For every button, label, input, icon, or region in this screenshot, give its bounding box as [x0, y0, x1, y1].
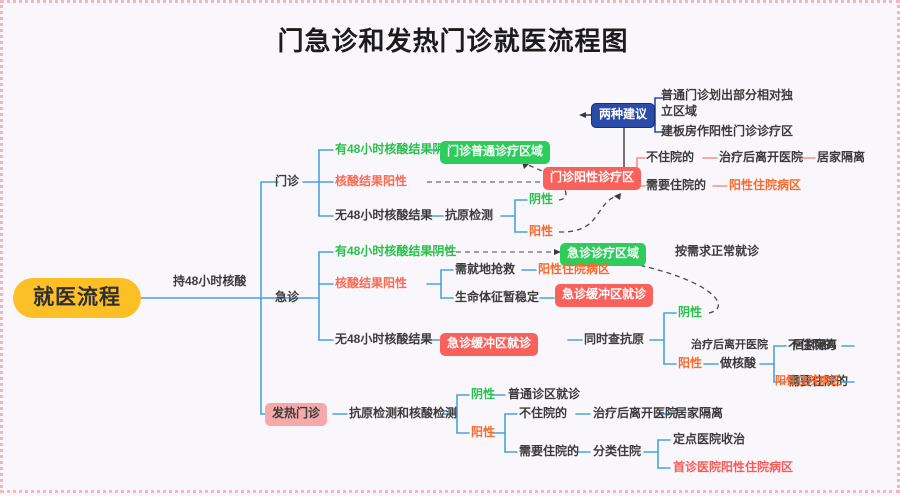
fever-inpatient-label: 需要住院的: [519, 445, 579, 459]
root-edge-label: 持48小时核酸: [173, 275, 246, 289]
fever-positive-label: 阳性: [471, 426, 495, 440]
emergency-no48-label: 无48小时核酸结果: [335, 333, 432, 347]
positive-clinic-outpatient-label: 不住院的: [646, 151, 694, 165]
advice-option-2: 建板房作阳性门诊诊疗区: [661, 125, 793, 139]
emergency-onsite-rescue-label: 需就地抢救: [455, 263, 515, 277]
emergency-home-isolation: 居家隔离: [793, 339, 837, 352]
fever-negative-label: 阴性: [471, 388, 495, 402]
emergency-buffer-zone-box-1[interactable]: 急诊缓冲区就诊: [555, 284, 653, 307]
emergency-pcr-positive-label: 核酸结果阳性: [335, 277, 407, 291]
branch-label-outpatient[interactable]: 门诊: [275, 175, 299, 189]
positive-clinic-home-isolation: 居家隔离: [817, 151, 865, 165]
emergency-leave-hospital: 治疗后离开医院: [691, 339, 768, 352]
emergency-positive-ward: 阳性住院病区: [775, 375, 841, 388]
fever-outpatient-label: 不住院的: [519, 407, 567, 421]
emergency-do-pcr-label: 做核酸: [720, 357, 756, 371]
fever-first-hospital-ward: 首诊医院阳性住院病区: [673, 461, 793, 475]
outpatient-antigen-positive-label: 阳性: [529, 225, 553, 239]
emergency-antigen-check-label: 同时查抗原: [584, 333, 644, 347]
outpatient-positive-zone-box[interactable]: 门诊阳性诊疗区: [543, 167, 641, 190]
fever-designated-hospital: 定点医院收治: [673, 433, 745, 447]
emergency-antigen-positive-label: 阳性: [678, 357, 702, 371]
fever-leave-hospital: 治疗后离开医院: [593, 407, 677, 421]
emergency-stable-vitals-label: 生命体征暂稳定: [455, 291, 539, 305]
fever-negative-target: 普通诊区就诊: [508, 388, 580, 402]
positive-clinic-leave-hospital: 治疗后离开医院: [719, 151, 803, 165]
two-suggestions-box[interactable]: 两种建议: [591, 103, 655, 128]
branch-label-emergency[interactable]: 急诊: [275, 291, 299, 305]
emergency-antigen-negative-label: 阴性: [678, 306, 702, 320]
outpatient-antigen-negative-label: 阴性: [529, 193, 553, 207]
root-node[interactable]: 就医流程: [13, 278, 141, 318]
advice-option-1: 普通门诊划出部分相对独立区域: [661, 87, 801, 119]
positive-inpatient-ward-label: 阳性住院病区: [729, 179, 801, 193]
branch-label-fever[interactable]: 发热门诊: [265, 403, 327, 426]
fever-classified-admission: 分类住院: [593, 445, 641, 459]
outpatient-antigen-label: 抗原检测: [445, 209, 493, 223]
fever-test-label: 抗原检测和核酸检测: [349, 407, 457, 421]
fever-home-isolation: 居家隔离: [675, 407, 723, 421]
emergency-neg48-label: 有48小时核酸结果阴性: [335, 245, 456, 259]
flowchart-canvas: 门急诊和发热门诊就医流程图: [0, 0, 900, 493]
outpatient-normal-zone-box[interactable]: 门诊普通诊疗区域: [440, 141, 550, 164]
emergency-rescue-ward-label: 阳性住院病区: [538, 263, 610, 277]
outpatient-neg48-label: 有48小时核酸结果阴性: [335, 143, 456, 157]
positive-clinic-inpatient-label: 需要住院的: [646, 179, 706, 193]
emergency-normal-visit-note: 按需求正常就诊: [675, 245, 759, 259]
page-title: 门急诊和发热门诊就医流程图: [3, 21, 900, 58]
outpatient-no48-label: 无48小时核酸结果: [335, 209, 432, 223]
emergency-buffer-zone-box-2[interactable]: 急诊缓冲区就诊: [440, 333, 538, 356]
outpatient-pcr-positive-label: 核酸结果阳性: [335, 175, 407, 189]
